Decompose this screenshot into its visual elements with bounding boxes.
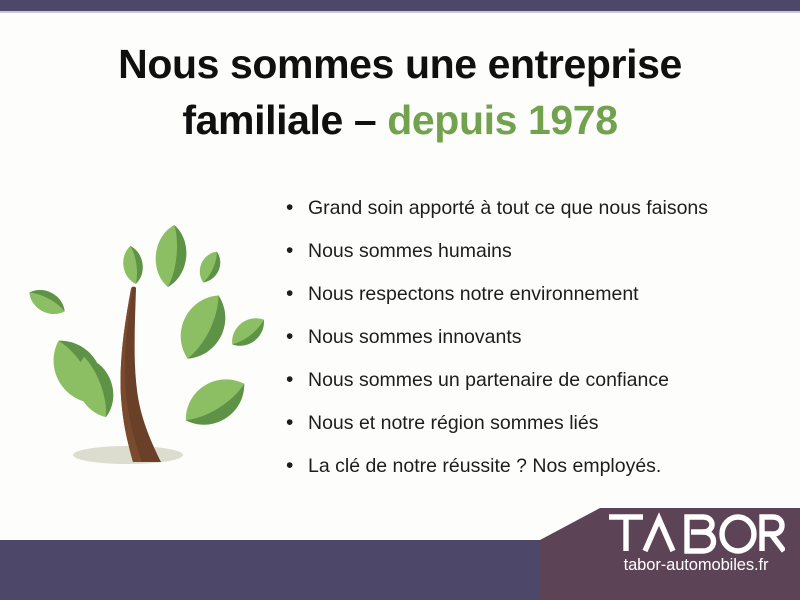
tree-illustration [20,192,272,482]
value-proposition-list: • Grand soin apporté à tout ce que nous … [286,196,756,497]
list-item-label: Nous et notre région sommes liés [308,411,598,435]
tree-leaf [153,223,190,288]
tree-shadow [73,446,183,464]
page-title-line-2: familiale – depuis 1978 [0,92,800,148]
list-item-label: Nous sommes un partenaire de confiance [308,368,669,392]
bullet-icon: • [286,239,308,263]
tabor-wordmark-icon [607,512,785,554]
tree-leaf [169,287,236,368]
list-item: • Nous respectons notre environnement [286,282,756,325]
page-title-dash: – [343,97,387,143]
page-title-line-1: Nous sommes une entreprise [0,36,800,92]
top-accent-bar [0,0,800,11]
page-title: Nous sommes une entreprise familiale – d… [0,36,800,148]
list-item-label: Nous sommes humains [308,239,512,263]
tree-leaf [195,248,226,286]
list-item-label: Nous sommes innovants [308,325,522,349]
brand-logo[interactable]: tabor-automobiles.fr [598,512,794,590]
list-item-label: Grand soin apporté à tout ce que nous fa… [308,196,708,220]
bullet-icon: • [286,411,308,435]
list-item-label: Nous respectons notre environnement [308,282,639,306]
list-item-label: La clé de notre réussite ? Nos employés. [308,454,661,478]
tree-leaf [121,245,145,286]
slide-canvas: Nous sommes une entreprise familiale – d… [0,0,800,600]
bullet-icon: • [286,454,308,478]
tree-trunk [121,287,161,462]
tree-leaf [25,284,70,321]
top-accent-hairline [0,11,800,13]
bullet-icon: • [286,325,308,349]
brand-website-label: tabor-automobiles.fr [598,555,794,575]
page-title-line-2-black: familiale [182,97,342,143]
list-item: • Nous et notre région sommes liés [286,411,756,454]
list-item: • Nous sommes innovants [286,325,756,368]
list-item: • Nous sommes humains [286,239,756,282]
tree-leaf [226,311,271,353]
bullet-icon: • [286,282,308,306]
list-item: • Nous sommes un partenaire de confiance [286,368,756,411]
list-item: • Grand soin apporté à tout ce que nous … [286,196,756,239]
bullet-icon: • [286,368,308,392]
tree-leaf [176,367,255,436]
bullet-icon: • [286,196,308,220]
page-title-highlight: depuis 1978 [387,97,617,143]
list-item: • La clé de notre réussite ? Nos employé… [286,454,756,497]
